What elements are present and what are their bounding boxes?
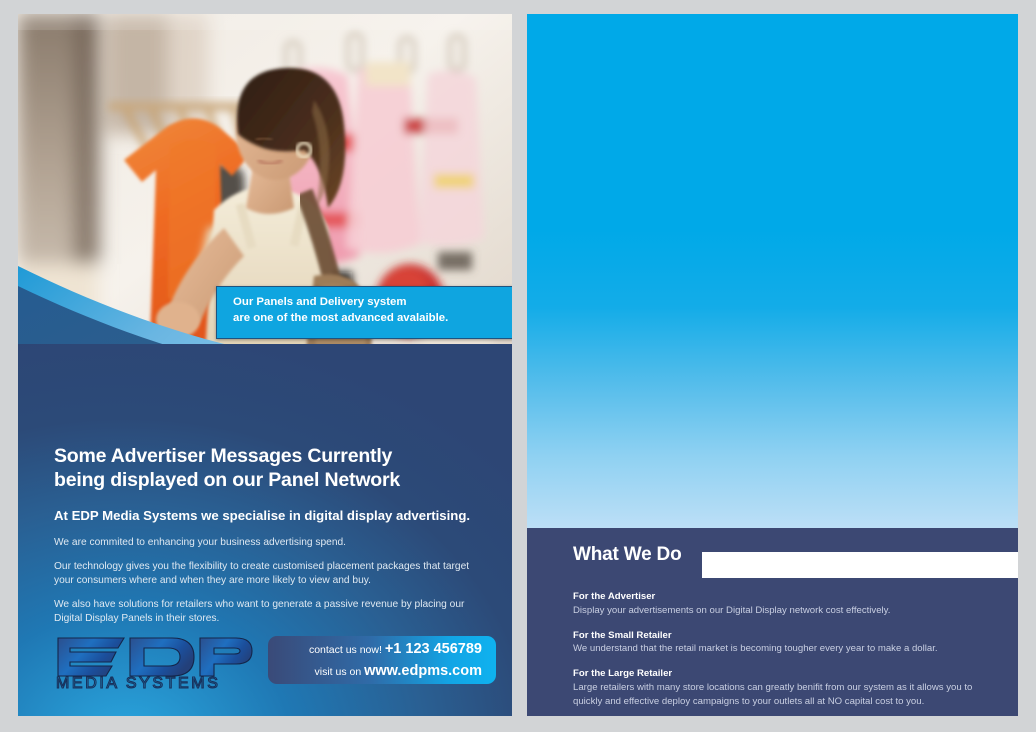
panels-callout-box: Our Panels and Delivery system are one o…	[216, 286, 512, 339]
small-retailer-block: For the Small Retailer We understand tha…	[573, 629, 991, 657]
page-subheadline: At EDP Media Systems we specialise in di…	[54, 507, 494, 524]
brochure-page: Our Panels and Delivery system are one o…	[0, 0, 1036, 732]
contact-web-line: visit us on www.edpms.com	[314, 660, 482, 682]
contact-box[interactable]: contact us now! +1 123 456789 visit us o…	[268, 636, 496, 684]
contact-phone-value: +1 123 456789	[385, 641, 482, 657]
advertiser-heading: For the Advertiser	[573, 590, 991, 604]
callout-line-1: Our Panels and Delivery system	[233, 295, 512, 311]
small-retailer-text: We understand that the retail market is …	[573, 642, 991, 656]
left-brochure-panel: Our Panels and Delivery system are one o…	[18, 14, 512, 716]
edp-logo-artwork: MEDIA SYSTEMS	[54, 628, 254, 690]
what-we-do-content: For the Advertiser Display your advertis…	[573, 590, 991, 719]
what-we-do-title: What We Do	[573, 544, 681, 566]
contact-web-value: www.edpms.com	[364, 663, 482, 679]
page-headline: Some Advertiser Messages Currently being…	[54, 444, 484, 493]
contact-phone-label: contact us now!	[309, 644, 382, 656]
advertiser-text: Display your advertisements on our Digit…	[573, 604, 991, 618]
logo-tagline-text: MEDIA SYSTEMS	[56, 675, 221, 690]
body-paragraph: We also have solutions for retailers who…	[54, 598, 490, 625]
large-retailer-heading: For the Large Retailer	[573, 667, 991, 681]
contact-phone-line: contact us now! +1 123 456789	[309, 638, 482, 660]
left-panel-body: Some Advertiser Messages Currently being…	[18, 344, 512, 716]
large-retailer-text: Large retailers with many store location…	[573, 681, 991, 708]
what-we-do-white-bar	[702, 552, 1018, 578]
right-panel-sky	[527, 14, 1018, 528]
small-retailer-heading: For the Small Retailer	[573, 629, 991, 643]
what-we-do-panel: What We Do For the Advertiser Display yo…	[527, 528, 1018, 716]
headline-line-2: being displayed on our Panel Network	[54, 468, 484, 492]
body-paragraph: Our technology gives you the flexibility…	[54, 560, 490, 587]
body-copy: We are commited to enhancing your busine…	[54, 536, 490, 636]
advertiser-block: For the Advertiser Display your advertis…	[573, 590, 991, 618]
headline-line-1: Some Advertiser Messages Currently	[54, 444, 484, 468]
large-retailer-block: For the Large Retailer Large retailers w…	[573, 667, 991, 708]
body-paragraph: We are commited to enhancing your busine…	[54, 536, 490, 549]
edp-logo: MEDIA SYSTEMS	[54, 628, 254, 690]
callout-line-2: are one of the most advanced avalaible.	[233, 311, 512, 327]
contact-web-label: visit us on	[314, 666, 361, 678]
